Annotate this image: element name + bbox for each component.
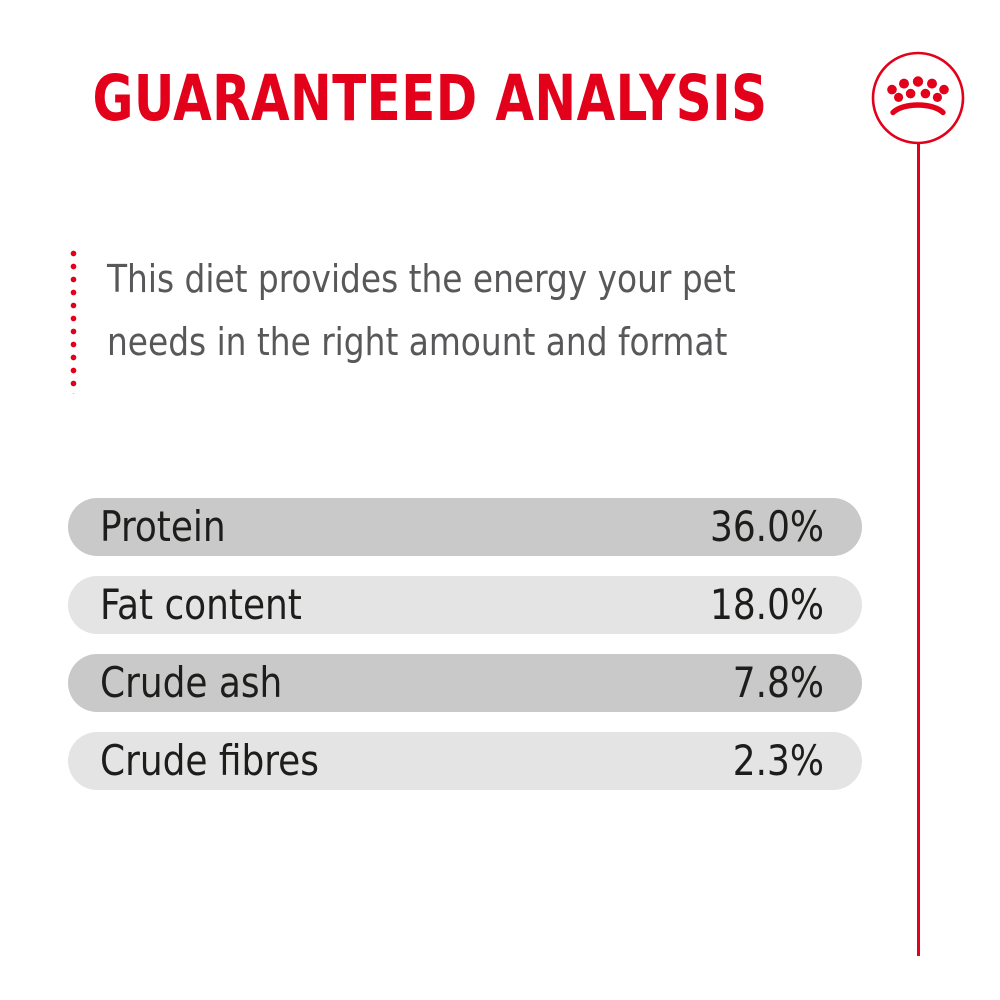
- row-value: 2.3%: [733, 740, 824, 782]
- intro-text: This diet provides the energy your pet n…: [107, 248, 736, 394]
- intro-text-line-2: needs in the right amount and format: [107, 311, 736, 374]
- logo-stem-line: [917, 144, 920, 956]
- row-label: Crude ash: [100, 662, 282, 704]
- dotted-vertical-rule-icon: [70, 250, 77, 394]
- table-row: Fat content 18.0%: [68, 576, 862, 634]
- royal-canin-crown-icon: [870, 50, 966, 146]
- row-value: 36.0%: [710, 506, 824, 548]
- analysis-table: Protein 36.0% Fat content 18.0% Crude as…: [68, 498, 862, 790]
- table-row: Crude fibres 2.3%: [68, 732, 862, 790]
- table-row: Crude ash 7.8%: [68, 654, 862, 712]
- intro-text-line-1: This diet provides the energy your pet: [107, 248, 736, 311]
- page-title: GUARANTEED ANALYSIS: [52, 66, 809, 132]
- table-row: Protein 36.0%: [68, 498, 862, 556]
- intro-block: This diet provides the energy your pet n…: [70, 248, 770, 394]
- row-label: Fat content: [100, 584, 302, 626]
- row-value: 18.0%: [710, 584, 824, 626]
- row-label: Protein: [100, 506, 226, 548]
- row-value: 7.8%: [733, 662, 824, 704]
- guaranteed-analysis-panel: GUARANTEED ANALYSIS This diet provides t…: [0, 0, 1000, 1000]
- row-label: Crude fibres: [100, 740, 319, 782]
